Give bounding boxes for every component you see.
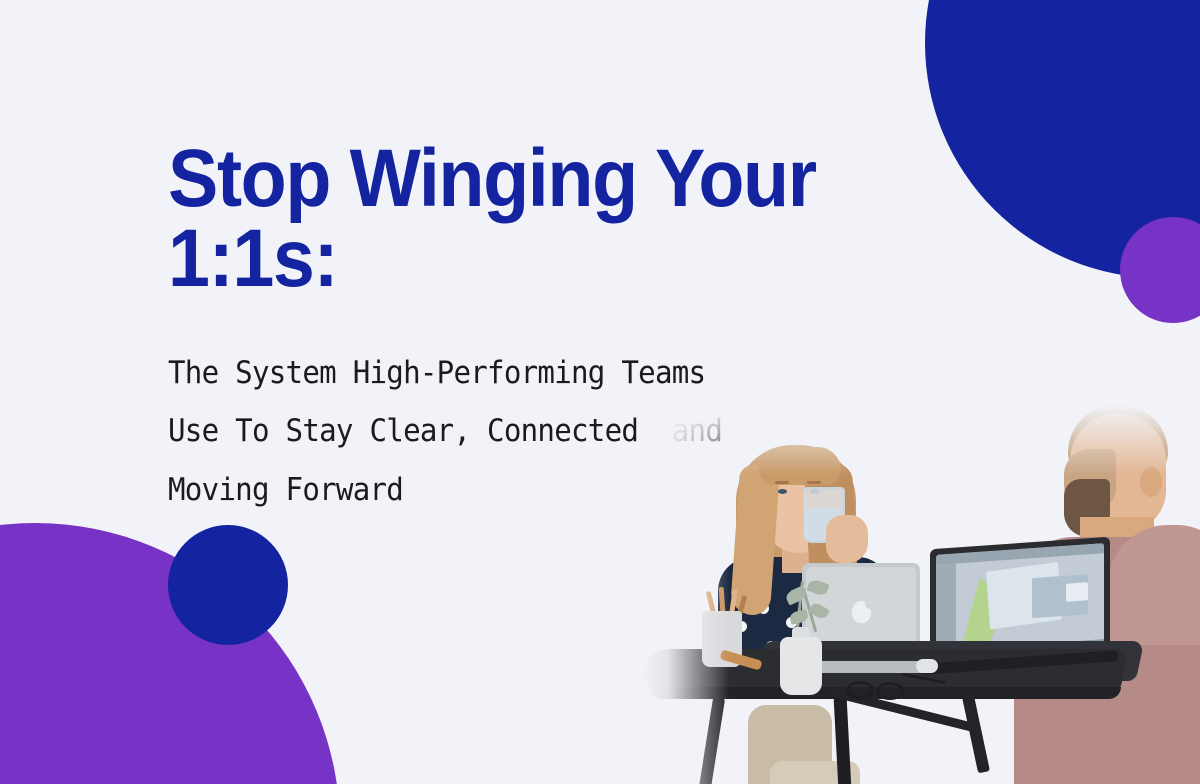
woman-eyebrow-right bbox=[807, 481, 821, 484]
computer-mouse bbox=[916, 659, 938, 673]
desk-leg-right bbox=[962, 695, 990, 774]
woman-eye-left bbox=[778, 489, 787, 494]
bottom-left-blue-circle bbox=[168, 525, 288, 645]
woman-hand bbox=[826, 515, 868, 563]
slide-canvas: Stop Winging Your 1:1s: The System High-… bbox=[0, 0, 1200, 784]
laptop-ui-thumbnail bbox=[1066, 582, 1088, 602]
white-vase bbox=[780, 637, 822, 695]
eyeglasses-lens-right bbox=[876, 682, 904, 700]
man-ear bbox=[1140, 467, 1162, 497]
desk-leg-left bbox=[699, 697, 725, 784]
bottom-left-purple-circle bbox=[0, 523, 340, 784]
eyeglasses-lens-left bbox=[846, 681, 874, 699]
woman-eyebrow-left bbox=[775, 481, 789, 484]
page-title: Stop Winging Your 1:1s: bbox=[168, 139, 867, 300]
office-photo bbox=[640, 405, 1200, 784]
apple-logo-bite-icon bbox=[865, 598, 876, 609]
woman-hair-fringe bbox=[759, 447, 841, 485]
